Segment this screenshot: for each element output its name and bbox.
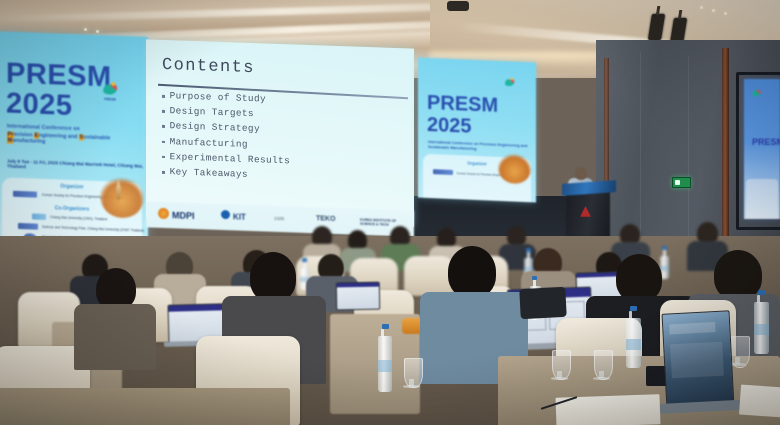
projection-screen-left-banner: PRESM 2025 International Conference on P…	[0, 31, 148, 253]
laptop-content-panel	[670, 342, 724, 379]
bullet-marker-icon	[162, 95, 165, 98]
ceiling-downlight-icon	[724, 12, 727, 15]
sponsor-sunburst-icon	[158, 208, 169, 219]
ceiling-speaker	[447, 1, 469, 11]
banner-subtitle-line2: Precision Engineering and Sustainable Ma…	[7, 132, 148, 149]
organizer-logo-kspe	[13, 191, 37, 198]
slide-bullet-label: Design Targets	[170, 105, 254, 119]
chair	[404, 256, 454, 296]
slide-bullet-label: Experimental Results	[170, 151, 291, 166]
water-bottle	[378, 336, 392, 392]
laptop-titlebar	[577, 272, 621, 278]
coorganizer-logo-step	[18, 223, 38, 230]
side-banner-year: 2025	[427, 114, 472, 139]
slide-bullet-label: Design Strategy	[170, 121, 260, 135]
far-banner-acronym: PRESM	[752, 137, 780, 147]
attendee-head	[714, 250, 762, 300]
wine-glass	[730, 336, 750, 368]
conference-hall-photo: PRESM 2025 International Conference on P…	[0, 0, 780, 425]
projection-screen-main-slide: Contents Purpose of Study Design Targets…	[146, 39, 414, 226]
slide-bullet-label: Key Takeaways	[170, 166, 248, 180]
banner-year: 2025	[6, 87, 73, 123]
projection-screen-far-right: PRESM	[744, 79, 780, 219]
slide-bullet-list: Purpose of Study Design Targets Design S…	[162, 90, 402, 190]
side-banner-subtitle: International Conference on Precision En…	[428, 140, 528, 154]
backpack	[519, 287, 567, 319]
ceiling-downlight-icon	[96, 30, 99, 33]
wine-glass	[594, 350, 613, 380]
banner-temple-illustration	[100, 175, 144, 219]
wine-glass	[552, 350, 571, 380]
bullet-marker-icon	[162, 125, 165, 128]
coorganizer-row: Chiang Mai University (CMU), Thailand	[50, 215, 107, 221]
ceiling-downlight-icon	[84, 28, 87, 31]
sponsor-mark-icon	[221, 210, 230, 219]
bullet-marker-icon	[162, 140, 165, 143]
slide-title: Contents	[162, 56, 255, 78]
water-bottle	[754, 302, 769, 354]
sponsor-logo: 1325	[274, 216, 284, 221]
bullet-marker-icon	[162, 110, 165, 113]
coorganizer-row: Science and Technology Park, Chiang Mai …	[42, 225, 144, 233]
bullet-marker-icon	[162, 171, 165, 174]
side-organizer-logo	[433, 169, 453, 175]
presenter-head	[575, 167, 587, 180]
presm-logo-icon	[502, 75, 517, 92]
far-banner-card	[746, 179, 778, 219]
slide-bullet-label: Purpose of Study	[170, 90, 266, 104]
laptop-display	[662, 310, 735, 409]
laptop-titlebar	[337, 283, 379, 288]
sponsor-logo: TEKO	[316, 215, 335, 223]
coorganizer-logo-cmu	[32, 213, 46, 220]
presm-logo-icon: PRESM	[99, 78, 121, 103]
laptop-titlebar	[169, 304, 227, 312]
attendee-head	[616, 254, 662, 302]
slide-bullet-label: Manufacturing	[170, 136, 248, 150]
laptop-display	[336, 282, 380, 311]
bullet-marker-icon	[162, 156, 165, 159]
ceiling-downlight-icon	[700, 6, 703, 9]
foreground-table	[0, 388, 290, 425]
notepad	[739, 385, 780, 418]
attendee-head	[250, 252, 296, 302]
svg-text:PRESM: PRESM	[104, 97, 116, 101]
presm-logo-icon	[750, 87, 763, 101]
water-bottle	[626, 318, 641, 368]
attendee-torso	[74, 304, 156, 370]
projection-screen-side-banner: PRESM 2025 International Conference on P…	[418, 58, 536, 203]
exit-sign	[672, 177, 691, 188]
side-banner-temple-illustration	[498, 153, 531, 184]
sponsor-logo: MDPI	[172, 210, 195, 221]
attendee-head	[448, 246, 496, 298]
laptop-content-panel	[669, 322, 715, 334]
banner-date-venue: July 8 Tue - 11 Fri, 2025 Chiang Mai Mar…	[7, 159, 148, 174]
ceiling-downlight-icon	[712, 9, 715, 12]
sponsor-logo: KIT	[233, 212, 246, 221]
wine-glass	[404, 358, 423, 388]
